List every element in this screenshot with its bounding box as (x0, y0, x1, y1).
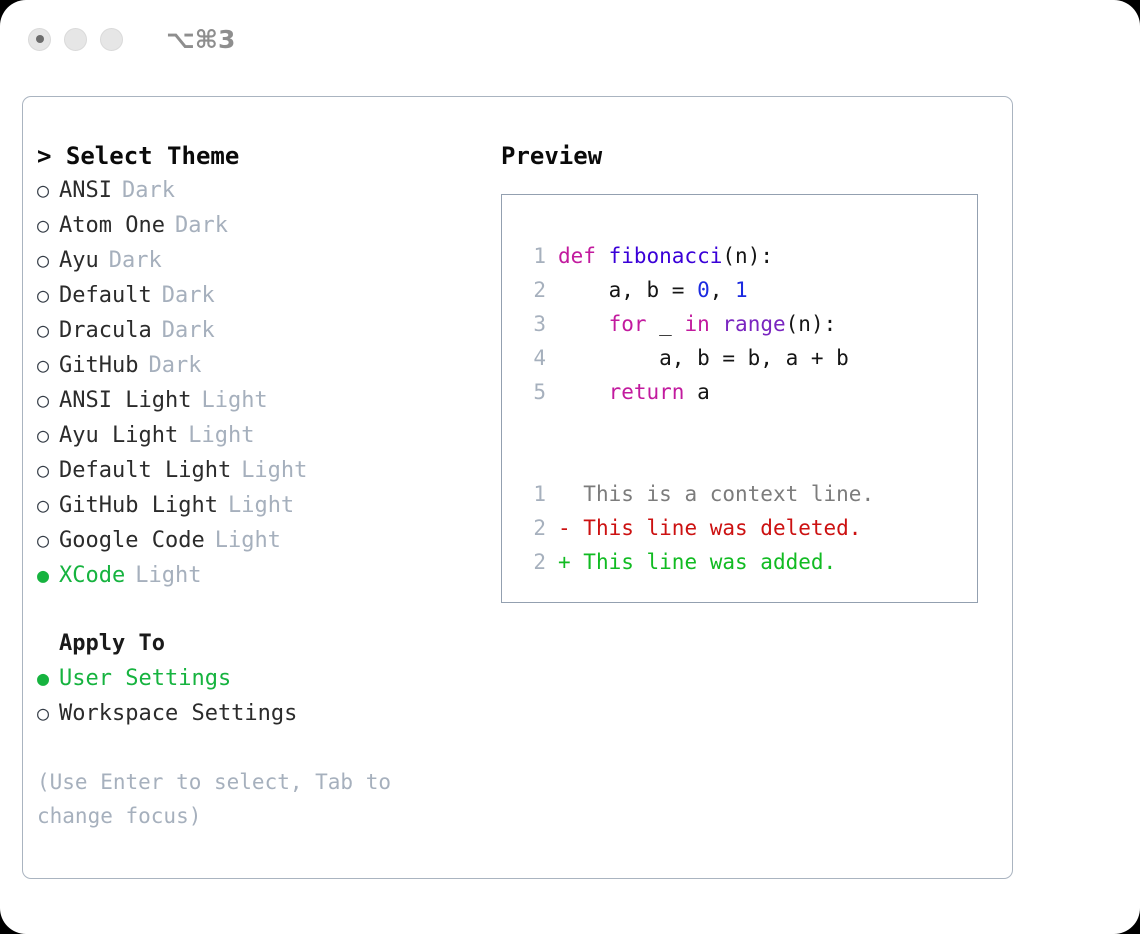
diff-line-number: 2 (520, 511, 546, 545)
diff-line-context: 1 This is a context line. (520, 477, 977, 511)
code-token-fn: fibonacci (609, 244, 723, 268)
diff-line-text: This line was added. (571, 550, 837, 574)
diff-line-content: This is a context line. (558, 477, 874, 511)
apply-to-option-label: Workspace Settings (59, 697, 297, 731)
code-token-plain: _ (647, 312, 685, 336)
code-token-plain: a (684, 380, 709, 404)
theme-option-ayu[interactable]: ○AyuDark (37, 243, 489, 278)
main-panel: > Select Theme ○ANSIDark○Atom OneDark○Ay… (22, 96, 1013, 879)
diff-line-number: 2 (520, 545, 546, 579)
theme-list: ○ANSIDark○Atom OneDark○AyuDark○DefaultDa… (37, 173, 489, 593)
theme-option-google-code[interactable]: ○Google CodeLight (37, 523, 489, 558)
theme-variant-tag: Dark (162, 279, 215, 313)
theme-option-xcode[interactable]: ●XCodeLight (37, 558, 489, 593)
diff-line-text: This is a context line. (571, 482, 874, 506)
section-spacer (37, 593, 489, 627)
theme-variant-tag: Light (228, 489, 294, 523)
code-blank-line (520, 409, 977, 443)
code-token-plain (558, 380, 609, 404)
close-button-icon[interactable] (28, 28, 51, 51)
theme-option-label: Google Code (59, 524, 205, 558)
code-line: 1def fibonacci(n): (520, 239, 977, 273)
code-line-number: 2 (520, 273, 546, 307)
theme-variant-tag: Light (201, 384, 267, 418)
theme-option-default[interactable]: ○DefaultDark (37, 278, 489, 313)
preview-column: Preview 1def fibonacci(n):2 a, b = 0, 13… (501, 139, 1001, 603)
theme-variant-tag: Dark (109, 244, 162, 278)
theme-selector-column: > Select Theme ○ANSIDark○Atom OneDark○Ay… (37, 139, 489, 833)
apply-to-option-user-settings[interactable]: ●User Settings (37, 661, 489, 696)
radio-unselected-icon: ○ (37, 488, 59, 522)
code-token-plain: a, b = b, a + b (558, 346, 849, 370)
keyboard-hint: (Use Enter to select, Tab to change focu… (37, 765, 457, 833)
theme-option-label: GitHub (59, 349, 138, 383)
code-token-kw: def (558, 244, 609, 268)
radio-unselected-icon: ○ (37, 208, 59, 242)
theme-variant-tag: Light (135, 559, 201, 593)
code-line: 2 a, b = 0, 1 (520, 273, 977, 307)
theme-option-atom-one[interactable]: ○Atom OneDark (37, 208, 489, 243)
active-indicator-dot (36, 35, 44, 43)
code-preview-box: 1def fibonacci(n):2 a, b = 0, 13 for _ i… (501, 194, 978, 603)
theme-option-ayu-light[interactable]: ○Ayu LightLight (37, 418, 489, 453)
radio-unselected-icon: ○ (37, 243, 59, 277)
diff-line-content: - This line was deleted. (558, 511, 861, 545)
diff-marker: - (558, 516, 571, 540)
app-window: ⌥⌘3 > Select Theme ○ANSIDark○Atom OneDar… (0, 0, 1140, 934)
code-token-builtin: range (722, 312, 785, 336)
code-line-number: 5 (520, 375, 546, 409)
diff-line-number: 1 (520, 477, 546, 511)
apply-to-list: ●User Settings○Workspace Settings (37, 661, 489, 731)
code-token-punct: ( (722, 244, 735, 268)
theme-variant-tag: Light (241, 454, 307, 488)
radio-unselected-icon: ○ (37, 523, 59, 557)
code-blank-line-2 (520, 443, 977, 477)
theme-option-label: Atom One (59, 209, 165, 243)
radio-unselected-icon: ○ (37, 348, 59, 382)
theme-option-dracula[interactable]: ○DraculaDark (37, 313, 489, 348)
code-token-plain (558, 312, 609, 336)
code-line-content: a, b = 0, 1 (558, 273, 748, 307)
radio-unselected-icon: ○ (37, 383, 59, 417)
code-token-num: 1 (735, 278, 748, 302)
code-token-punct: ): (748, 244, 773, 268)
code-token-plain: n (798, 312, 811, 336)
maximize-button-icon[interactable] (100, 28, 123, 51)
theme-option-label: ANSI (59, 174, 112, 208)
minimize-button-icon[interactable] (64, 28, 87, 51)
window-title: ⌥⌘3 (166, 25, 235, 54)
traffic-lights (28, 28, 123, 51)
theme-variant-tag: Dark (148, 349, 201, 383)
theme-option-label: Dracula (59, 314, 152, 348)
theme-option-label: Default Light (59, 454, 231, 488)
theme-option-label: ANSI Light (59, 384, 191, 418)
code-line-number: 4 (520, 341, 546, 375)
theme-variant-tag: Light (215, 524, 281, 558)
theme-option-label: XCode (59, 559, 125, 593)
radio-unselected-icon: ○ (37, 696, 59, 730)
code-token-kw: return (609, 380, 685, 404)
diff-marker (558, 482, 571, 506)
code-line: 5 return a (520, 375, 977, 409)
apply-to-heading: Apply To (59, 627, 489, 661)
diff-marker: + (558, 550, 571, 574)
code-line-number: 3 (520, 307, 546, 341)
code-token-plain: , (710, 278, 735, 302)
code-token-punct: ( (786, 312, 799, 336)
code-token-punct: ): (811, 312, 836, 336)
theme-option-label: Ayu (59, 244, 99, 278)
code-token-num: 0 (697, 278, 710, 302)
code-line-content: return a (558, 375, 710, 409)
diff-line-content: + This line was added. (558, 545, 836, 579)
code-line-content: def fibonacci(n): (558, 239, 773, 273)
theme-option-github[interactable]: ○GitHubDark (37, 348, 489, 383)
theme-option-ansi-light[interactable]: ○ANSI LightLight (37, 383, 489, 418)
theme-option-github-light[interactable]: ○GitHub LightLight (37, 488, 489, 523)
code-token-plain: a, b = (558, 278, 697, 302)
theme-option-default-light[interactable]: ○Default LightLight (37, 453, 489, 488)
apply-to-option-label: User Settings (59, 662, 231, 696)
theme-variant-tag: Dark (175, 209, 228, 243)
code-line: 4 a, b = b, a + b (520, 341, 977, 375)
radio-selected-icon: ● (37, 661, 59, 695)
theme-option-label: Default (59, 279, 152, 313)
code-token-kw: in (684, 312, 709, 336)
code-line-content: a, b = b, a + b (558, 341, 849, 375)
code-sample: 1def fibonacci(n):2 a, b = 0, 13 for _ i… (520, 239, 977, 409)
diff-line-added: 2+ This line was added. (520, 545, 977, 579)
diff-line-text: This line was deleted. (571, 516, 862, 540)
preview-heading: Preview (501, 139, 1001, 173)
theme-variant-tag: Dark (162, 314, 215, 348)
title-bar: ⌥⌘3 (0, 0, 1140, 78)
apply-to-option-workspace-settings[interactable]: ○Workspace Settings (37, 696, 489, 731)
code-token-kw: for (609, 312, 647, 336)
diff-line-deleted: 2- This line was deleted. (520, 511, 977, 545)
select-theme-heading: > Select Theme (37, 139, 489, 173)
code-line: 3 for _ in range(n): (520, 307, 977, 341)
theme-option-ansi[interactable]: ○ANSIDark (37, 173, 489, 208)
radio-unselected-icon: ○ (37, 173, 59, 207)
theme-option-label: GitHub Light (59, 489, 218, 523)
theme-variant-tag: Light (188, 419, 254, 453)
code-line-number: 1 (520, 239, 546, 273)
theme-option-label: Ayu Light (59, 419, 178, 453)
code-line-content: for _ in range(n): (558, 307, 836, 341)
radio-selected-icon: ● (37, 558, 59, 592)
code-token-plain (710, 312, 723, 336)
radio-unselected-icon: ○ (37, 453, 59, 487)
radio-unselected-icon: ○ (37, 278, 59, 312)
diff-sample: 1 This is a context line.2- This line wa… (520, 477, 977, 579)
radio-unselected-icon: ○ (37, 313, 59, 347)
theme-variant-tag: Dark (122, 174, 175, 208)
code-token-plain: n (735, 244, 748, 268)
radio-unselected-icon: ○ (37, 418, 59, 452)
